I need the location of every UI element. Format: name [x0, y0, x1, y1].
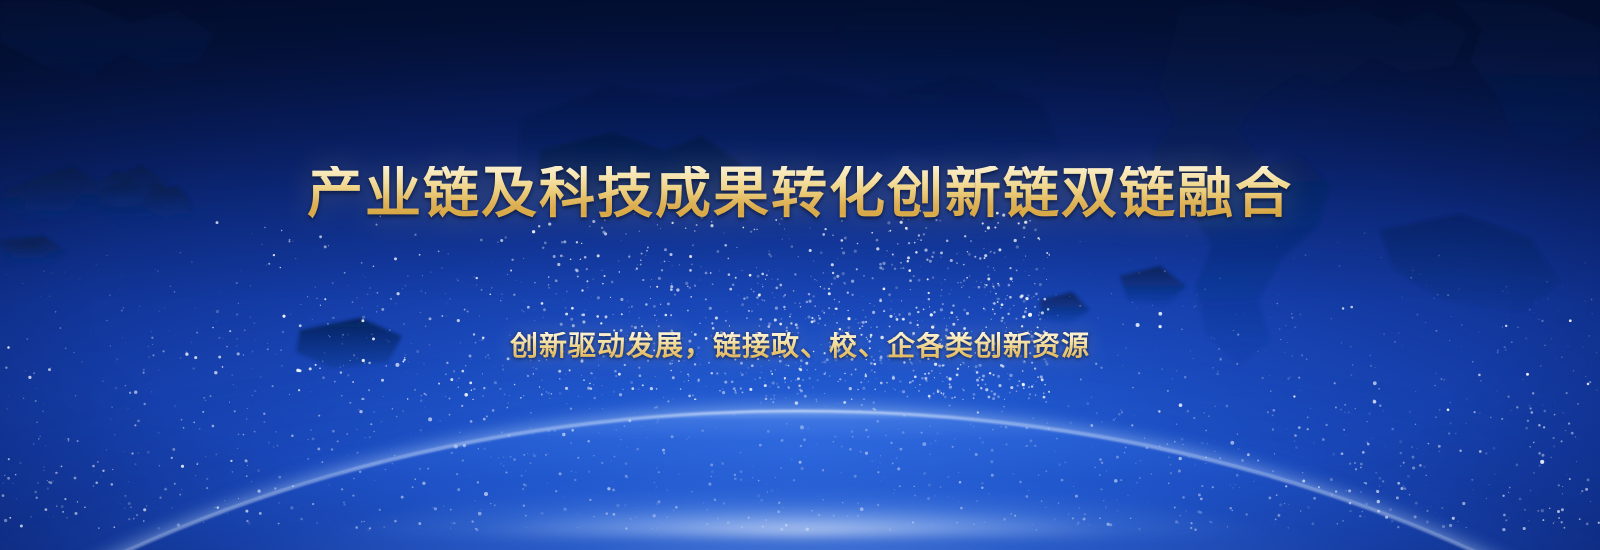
banner-headline: 产业链及科技成果转化创新链双链融合 — [0, 166, 1600, 222]
banner-subtitle: 创新驱动发展，链接政、校、企各类创新资源 — [0, 332, 1600, 360]
hero-banner: 产业链及科技成果转化创新链双链融合 创新驱动发展，链接政、校、企各类创新资源 — [0, 0, 1600, 550]
